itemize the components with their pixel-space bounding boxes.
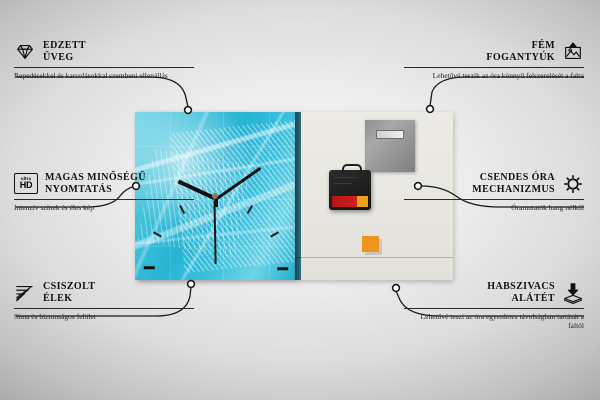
feature-title-line2: MECHANIZMUS xyxy=(472,184,555,196)
feature-description: Intenzív színek és éles kép xyxy=(14,203,194,213)
feature-silent-mechanism[interactable]: CSENDES ÓRA MECHANIZMUS Óramutatók hang … xyxy=(404,172,584,212)
feature-divider xyxy=(14,308,194,309)
feature-title-line1: MAGAS MINŐSÉGŰ xyxy=(45,172,146,184)
foam-pad-part xyxy=(362,236,379,252)
feature-title-line2: ALÁTÉT xyxy=(487,293,555,305)
ultra-hd-big-text: HD xyxy=(20,181,33,190)
feature-divider xyxy=(14,199,194,200)
mechanism-ridge xyxy=(334,177,356,178)
feature-title-line2: ÉLEK xyxy=(43,293,95,305)
infographic-canvas: EDZETT ÜVEG Repedésekkel és karcolásokka… xyxy=(0,0,600,400)
feature-divider xyxy=(404,308,584,309)
feature-description: Óramutatók hang nélkül xyxy=(404,203,584,213)
feature-divider xyxy=(14,67,194,68)
feature-title-line1: CSISZOLT xyxy=(43,281,95,293)
feature-title-line2: FOGANTYÚK xyxy=(486,52,555,64)
feature-divider xyxy=(404,199,584,200)
diamond-icon xyxy=(14,41,36,63)
ultra-hd-icon: ultra HD xyxy=(14,173,38,194)
feature-description: Repedésekkel és karcolásokkal szembeni e… xyxy=(14,71,194,81)
connector-dot-foam xyxy=(393,285,400,292)
clock-mechanism-part xyxy=(329,170,371,210)
mechanism-hook xyxy=(342,164,362,174)
feature-title-line1: HABSZIVACS xyxy=(487,281,555,293)
connector-hangers xyxy=(430,77,584,106)
gear-icon xyxy=(562,173,584,195)
feature-description: Sima és biztonságos felület xyxy=(14,312,194,322)
feature-title-line1: FÉM xyxy=(486,40,555,52)
battery-label xyxy=(332,196,368,207)
wall-mount-picture-icon xyxy=(562,41,584,63)
clock-minute-hand xyxy=(214,166,262,201)
feature-metal-hangers[interactable]: FÉM FOGANTYÚK Lehetővé teszik az óra kön… xyxy=(404,40,584,80)
feature-foam-pad[interactable]: HABSZIVACS ALÁTÉT Lehetővé teszi az óra … xyxy=(404,281,584,331)
feature-title-line1: EDZETT xyxy=(43,40,86,52)
feature-title-line2: ÜVEG xyxy=(43,52,86,64)
clock-center-cap xyxy=(212,193,218,199)
metal-hanger-part xyxy=(365,120,415,172)
feature-tempered-glass[interactable]: EDZETT ÜVEG Repedésekkel és karcolásokka… xyxy=(14,40,194,80)
connector-glass xyxy=(16,77,188,107)
feature-title-line2: NYOMTATÁS xyxy=(45,184,146,196)
feature-description: Lehetővé teszik az óra könnyű felszerelé… xyxy=(404,71,584,81)
feature-polished-edges[interactable]: CSISZOLT ÉLEK Sima és biztonságos felüle… xyxy=(14,281,194,321)
feature-title-line1: CSENDES ÓRA xyxy=(472,172,555,184)
glass-edge xyxy=(295,112,301,280)
feature-description: Lehetővé teszi az óra egyenletes távolsá… xyxy=(404,312,584,332)
polished-edges-icon xyxy=(14,282,36,304)
feature-divider xyxy=(404,67,584,68)
foam-pad-arrow-icon xyxy=(562,282,584,304)
feature-high-quality-print[interactable]: ultra HD MAGAS MINŐSÉGŰ NYOMTATÁS Intenz… xyxy=(14,172,194,212)
mechanism-ridge xyxy=(334,183,352,184)
hanger-slot xyxy=(376,130,404,139)
surface-line xyxy=(295,257,453,258)
